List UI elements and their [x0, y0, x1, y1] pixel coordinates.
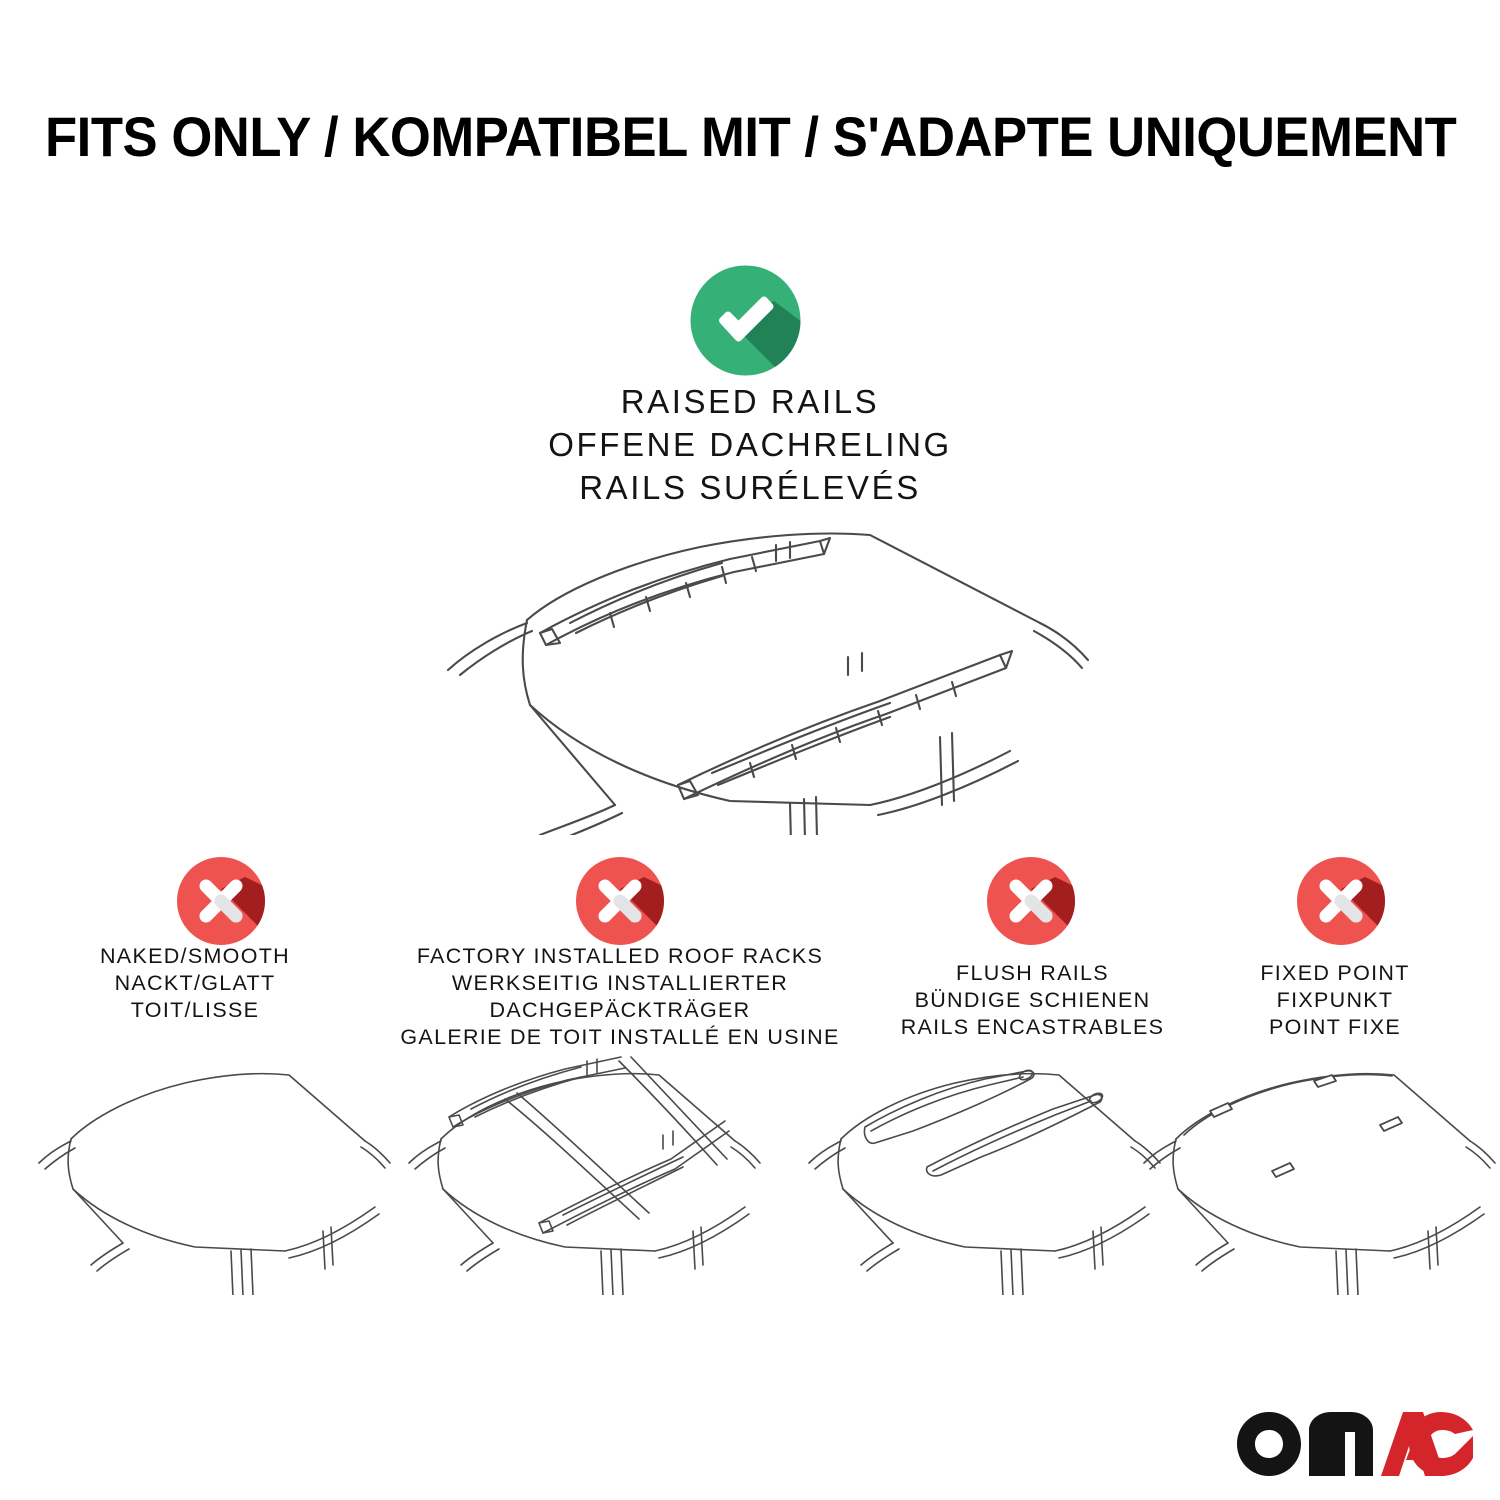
label-line-factory-roof-racks-1: FACTORY INSTALLED ROOF RACKS: [390, 943, 850, 970]
cross-circle-icon-naked-smooth: [175, 855, 267, 947]
logo-letter-c: [1409, 1412, 1473, 1476]
label-group-factory-roof-racks: FACTORY INSTALLED ROOF RACKS WERKSEITIG …: [390, 943, 850, 1051]
label-line-factory-roof-racks-4: GALERIE DE TOIT INSTALLÉ EN USINE: [390, 1024, 850, 1051]
label-line-fixed-point-3: POINT FIXE: [1185, 1014, 1485, 1041]
check-circle-icon: [688, 263, 803, 378]
logo-letter-m: [1309, 1412, 1373, 1476]
label-line-naked-smooth-3: TOIT/LISSE: [30, 997, 360, 1024]
compatibility-infographic: FITS ONLY / KOMPATIBEL MIT / S'ADAPTE UN…: [0, 0, 1500, 1500]
compatible-label-group: RAISED RAILS OFFENE DACHRELING RAILS SUR…: [250, 380, 1250, 509]
label-line-flush-rails-1: FLUSH RAILS: [860, 960, 1205, 987]
label-group-flush-rails: FLUSH RAILS BÜNDIGE SCHIENEN RAILS ENCAS…: [860, 960, 1205, 1041]
label-line-flush-rails-2: BÜNDIGE SCHIENEN: [860, 987, 1205, 1014]
cross-circle-icon-fixed-point: [1295, 855, 1387, 947]
label-group-naked-smooth: NAKED/SMOOTH NACKT/GLATT TOIT/LISSE: [30, 943, 360, 1024]
label-line-naked-smooth-1: NAKED/SMOOTH: [30, 943, 360, 970]
compatible-label-line-1: RAISED RAILS: [250, 380, 1250, 423]
label-line-factory-roof-racks-2: WERKSEITIG INSTALLIERTER: [390, 970, 850, 997]
label-line-fixed-point-1: FIXED POINT: [1185, 960, 1485, 987]
compatible-label-line-3: RAILS SURÉLEVÉS: [250, 466, 1250, 509]
logo-letter-o: [1237, 1412, 1301, 1476]
cross-circle-icon-factory-roof-racks: [574, 855, 666, 947]
car-roof-factory-roof-racks-illustration: [405, 1055, 765, 1295]
car-roof-naked-smooth-illustration: [35, 1055, 395, 1295]
car-roof-fixed-point-illustration: [1140, 1055, 1500, 1295]
label-group-fixed-point: FIXED POINT FIXPUNKT POINT FIXE: [1185, 960, 1485, 1041]
compatible-label-line-2: OFFENE DACHRELING: [250, 423, 1250, 466]
label-line-flush-rails-3: RAILS ENCASTRABLES: [860, 1014, 1205, 1041]
label-line-fixed-point-2: FIXPUNKT: [1185, 987, 1485, 1014]
omac-logo: [1233, 1408, 1473, 1480]
label-line-naked-smooth-2: NACKT/GLATT: [30, 970, 360, 997]
label-line-factory-roof-racks-3: DACHGEPÄCKTRÄGER: [390, 997, 850, 1024]
car-roof-flush-rails-illustration: [805, 1055, 1165, 1295]
cross-circle-icon-flush-rails: [985, 855, 1077, 947]
page-title: FITS ONLY / KOMPATIBEL MIT / S'ADAPTE UN…: [45, 104, 1455, 169]
car-roof-raised-rails-illustration: [400, 505, 1100, 835]
